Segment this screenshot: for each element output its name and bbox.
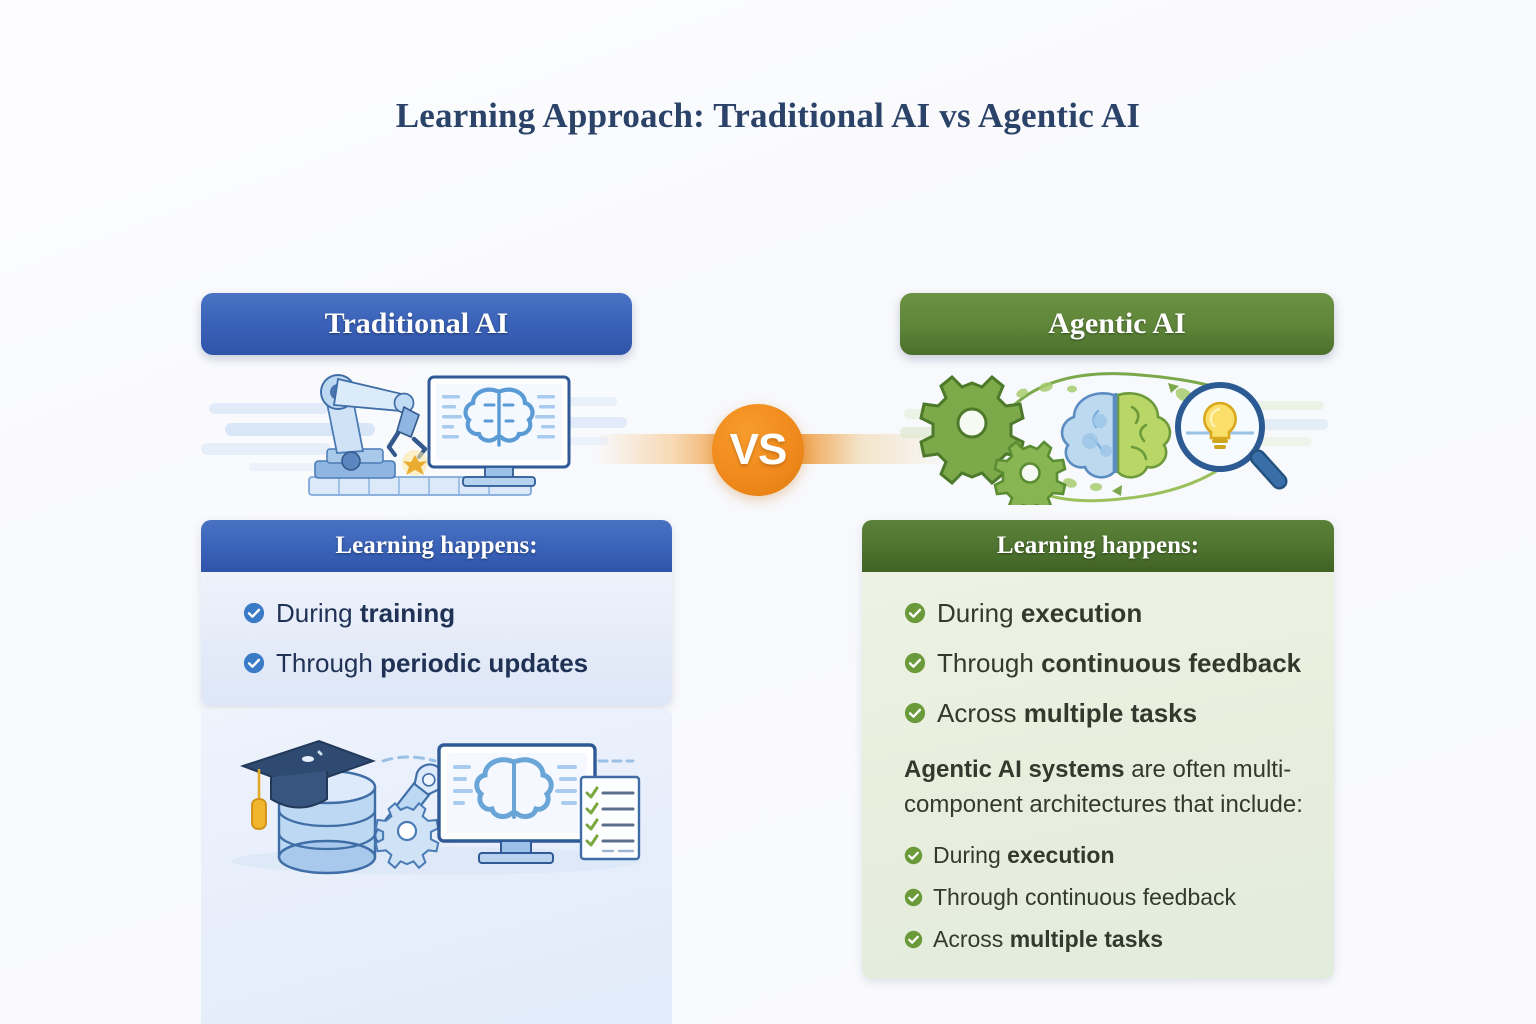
header-badge-traditional-ai-label: Traditional AI — [325, 307, 509, 341]
vs-badge-label: VS — [730, 425, 787, 475]
header-badge-agentic-ai: Agentic AI — [900, 293, 1334, 355]
list-item-label: Through continuous feedback — [937, 650, 1301, 676]
list-item-label: Across multiple tasks — [937, 700, 1197, 726]
check-circle-icon — [243, 602, 265, 624]
learning-happens-card-traditional: Learning happens: During training Throug… — [201, 520, 672, 706]
robot-arm-and-brain-monitor-illustration — [201, 365, 632, 505]
vs-badge: VS — [712, 404, 804, 496]
list-item-label: Through continuous feedback — [933, 886, 1236, 909]
card-heading-agentic: Learning happens: — [862, 520, 1334, 572]
check-circle-icon — [904, 702, 926, 724]
list-item: Through periodic updates — [201, 638, 672, 688]
check-circle-icon — [904, 930, 923, 949]
header-badge-agentic-ai-label: Agentic AI — [1048, 307, 1186, 341]
list-item-label: Through periodic updates — [276, 650, 588, 676]
list-item: During training — [201, 588, 672, 638]
check-circle-icon — [904, 888, 923, 907]
page-title: Learning Approach: Traditional AI vs Age… — [0, 96, 1536, 136]
list-item-label: Across multiple tasks — [933, 928, 1163, 951]
list-item: Across multiple tasks — [862, 919, 1334, 961]
list-item-label: During execution — [933, 844, 1115, 867]
check-circle-icon — [904, 602, 926, 624]
header-badge-traditional-ai: Traditional AI — [201, 293, 632, 355]
paragraph-lead: Agentic AI systems — [904, 756, 1125, 783]
list-item: Across multiple tasks — [862, 688, 1334, 738]
list-item: During execution — [862, 835, 1334, 877]
agentic-description-paragraph: Agentic AI systems are often multi-compo… — [862, 738, 1334, 835]
list-item-label: During training — [276, 600, 455, 626]
card-body-traditional: During training Through periodic updates — [201, 572, 672, 706]
gears-brain-magnifier-illustration — [900, 365, 1334, 505]
list-item-label: During execution — [937, 600, 1142, 626]
check-circle-icon — [243, 652, 265, 674]
infographic-canvas: Learning Approach: Traditional AI vs Age… — [0, 0, 1536, 1024]
list-item: Through continuous feedback — [862, 877, 1334, 919]
list-item: During execution — [862, 588, 1334, 638]
graduation-database-monitor-illustration — [201, 709, 672, 1024]
list-item: Through continuous feedback — [862, 638, 1334, 688]
check-circle-icon — [904, 652, 926, 674]
card-body-agentic: During execution Through continuous feed… — [862, 572, 1334, 979]
card-heading-traditional: Learning happens: — [201, 520, 672, 572]
check-circle-icon — [904, 846, 923, 865]
learning-happens-card-agentic: Learning happens: During execution Throu… — [862, 520, 1334, 979]
